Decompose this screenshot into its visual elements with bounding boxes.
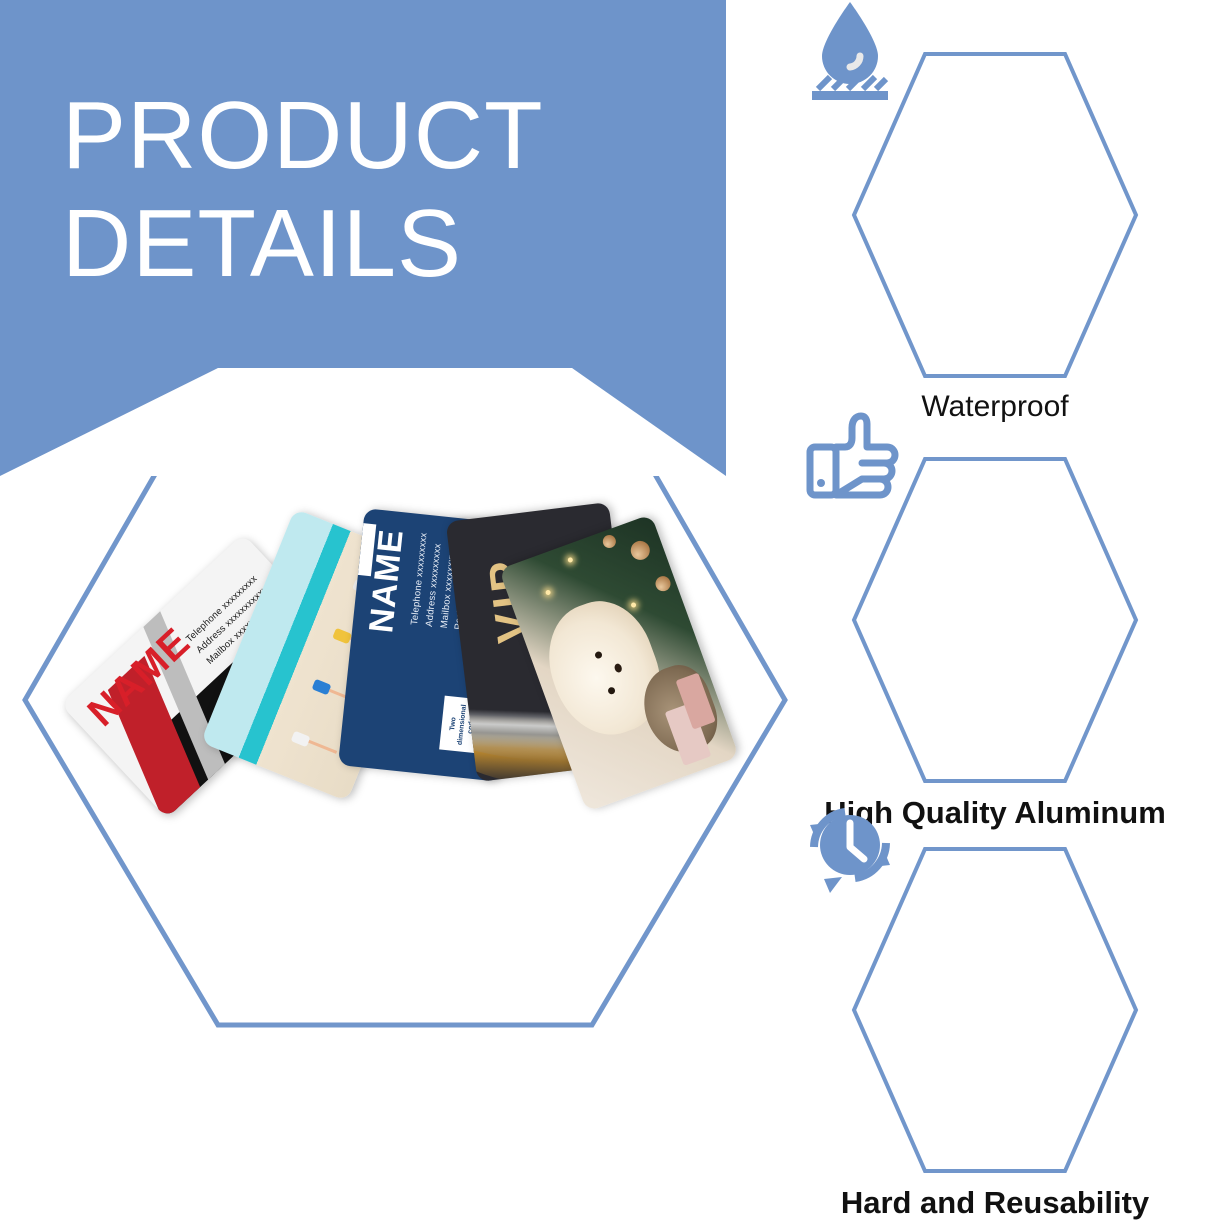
feature-label: Hard and Reusability bbox=[800, 1185, 1190, 1221]
beach-figure bbox=[290, 729, 338, 758]
string-light bbox=[630, 602, 636, 608]
ornament-bauble bbox=[628, 538, 652, 562]
feature-hard-and-reusability: Hard and Reusability bbox=[800, 845, 1190, 1221]
feature-hexagon bbox=[850, 455, 1140, 785]
clock-refresh-icon bbox=[790, 785, 910, 905]
infographic-canvas: PRODUCT DETAILS NAME Telephone xxxxxxxxx… bbox=[0, 0, 1214, 1214]
product-photo: NAME Telephone xxxxxxxxx Address xxxxxxx… bbox=[60, 520, 720, 890]
dog-eye bbox=[607, 686, 616, 695]
figure-legs bbox=[308, 740, 337, 754]
dog-eye bbox=[594, 651, 603, 660]
ornament-bauble bbox=[654, 574, 673, 593]
dog-nose bbox=[614, 663, 624, 674]
figure-top bbox=[311, 679, 331, 696]
feature-hexagon bbox=[850, 50, 1140, 380]
page-title: PRODUCT DETAILS bbox=[62, 82, 682, 297]
water-drop-on-surface-icon bbox=[790, 0, 910, 110]
feature-waterproof: Waterproof bbox=[800, 50, 1190, 424]
ornament-bauble bbox=[601, 533, 618, 550]
string-light bbox=[545, 590, 551, 596]
figure-top bbox=[332, 627, 352, 644]
feature-high-quality-aluminum: High Quality Aluminum bbox=[800, 455, 1190, 831]
figure-top bbox=[290, 730, 310, 747]
feature-hexagon bbox=[850, 845, 1140, 1175]
string-light bbox=[567, 557, 573, 563]
thumbs-up-icon bbox=[790, 395, 910, 515]
